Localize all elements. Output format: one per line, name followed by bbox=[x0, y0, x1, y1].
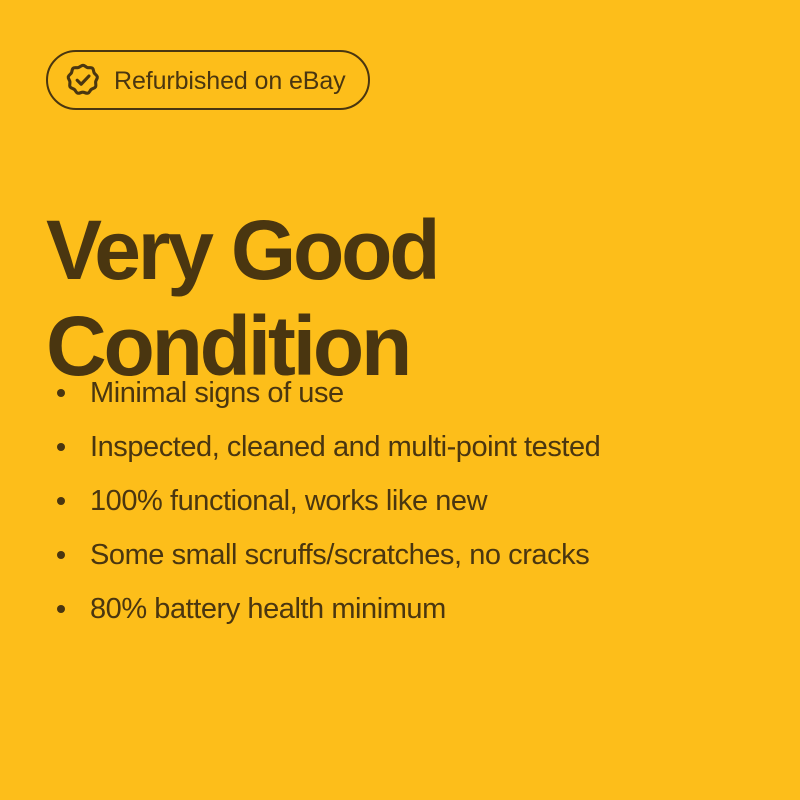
list-item-label: Minimal signs of use bbox=[90, 376, 344, 410]
refurbished-badge: Refurbished on eBay bbox=[46, 50, 370, 110]
list-item: Some small scruffs/scratches, no cracks bbox=[46, 528, 766, 582]
list-item-label: 100% functional, works like new bbox=[90, 484, 487, 518]
condition-feature-list: Minimal signs of use Inspected, cleaned … bbox=[46, 366, 766, 636]
list-item: 80% battery health minimum bbox=[46, 582, 766, 636]
list-item: 100% functional, works like new bbox=[46, 474, 766, 528]
verified-check-rosette-icon bbox=[66, 63, 100, 97]
refurbished-badge-label: Refurbished on eBay bbox=[114, 69, 346, 94]
bullet-dot-icon bbox=[57, 389, 65, 397]
list-item-label: 80% battery health minimum bbox=[90, 592, 446, 626]
bullet-dot-icon bbox=[57, 443, 65, 451]
bullet-dot-icon bbox=[57, 497, 65, 505]
list-item: Minimal signs of use bbox=[46, 366, 766, 420]
page-title-line-1: Very Good bbox=[46, 202, 746, 298]
bullet-dot-icon bbox=[57, 551, 65, 559]
list-item-label: Some small scruffs/scratches, no cracks bbox=[90, 538, 589, 572]
list-item: Inspected, cleaned and multi-point teste… bbox=[46, 420, 766, 474]
bullet-dot-icon bbox=[57, 605, 65, 613]
refurbished-condition-card: Refurbished on eBay Very Good Condition … bbox=[0, 0, 800, 800]
list-item-label: Inspected, cleaned and multi-point teste… bbox=[90, 430, 600, 464]
